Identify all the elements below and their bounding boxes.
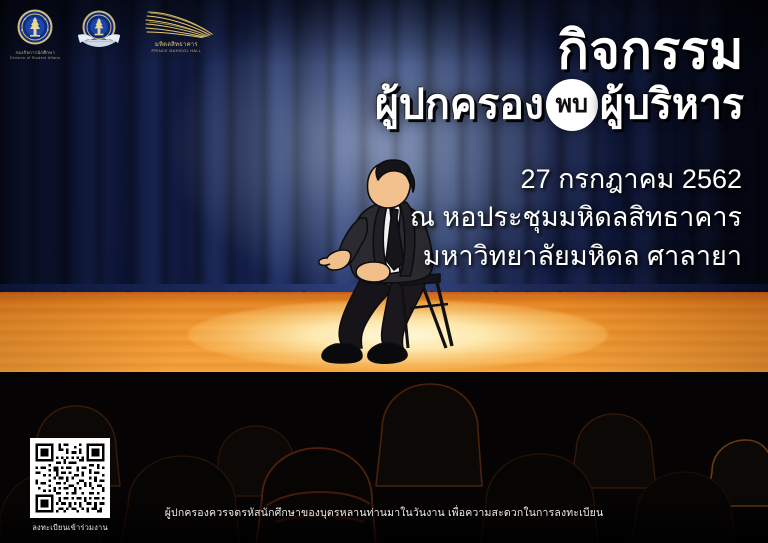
footer-note: ผู้ปกครองควรจดรหัสนักศึกษาของบุตรหลานท่า… bbox=[0, 504, 768, 521]
prince-mahidol-hall-mark-icon bbox=[138, 10, 214, 40]
logo-caption-prince-mahidol-hall: มหิดลสิทธาคาร PRINCE MAHIDOL HALL bbox=[151, 41, 201, 54]
headline-administrators: ผู้บริหาร bbox=[600, 84, 744, 125]
event-poster: กองกิจการนักศึกษา Division of Student Af… bbox=[0, 0, 768, 543]
floor-left-shadow bbox=[0, 292, 180, 374]
headline-line2: ผู้ปกครอง พบ ผู้บริหาร bbox=[294, 79, 744, 131]
logo-row: กองกิจการนักศึกษา Division of Student Af… bbox=[10, 8, 214, 61]
logo-prince-mahidol-hall: มหิดลสิทธาคาร PRINCE MAHIDOL HALL bbox=[138, 8, 214, 54]
student-affairs-seal-icon bbox=[13, 8, 57, 48]
logo-division-of-student-affairs: กองกิจการนักศึกษา Division of Student Af… bbox=[10, 8, 60, 61]
qr-caption: ลงทะเบียนเข้าร่วมงาน bbox=[26, 522, 114, 534]
headline-line1: กิจกรรม bbox=[294, 26, 744, 77]
headline-parents: ผู้ปกครอง bbox=[375, 84, 544, 125]
logo-mahidol-university bbox=[76, 8, 122, 54]
headline-block: กิจกรรม ผู้ปกครอง พบ ผู้บริหาร bbox=[294, 26, 744, 131]
mahidol-seal-icon bbox=[76, 8, 122, 52]
event-date: 27 กรกฎาคม 2562 bbox=[272, 160, 742, 198]
event-campus: มหาวิทยาลัยมหิดล ศาลายา bbox=[272, 237, 742, 275]
event-details-block: 27 กรกฎาคม 2562 ณ หอประชุมมหิดลสิทธาคาร … bbox=[272, 160, 742, 275]
headline-meet-badge: พบ bbox=[546, 79, 598, 131]
logo-caption-student-affairs: กองกิจการนักศึกษา Division of Student Af… bbox=[10, 50, 60, 61]
event-venue: ณ หอประชุมมหิดลสิทธาคาร bbox=[272, 198, 742, 236]
